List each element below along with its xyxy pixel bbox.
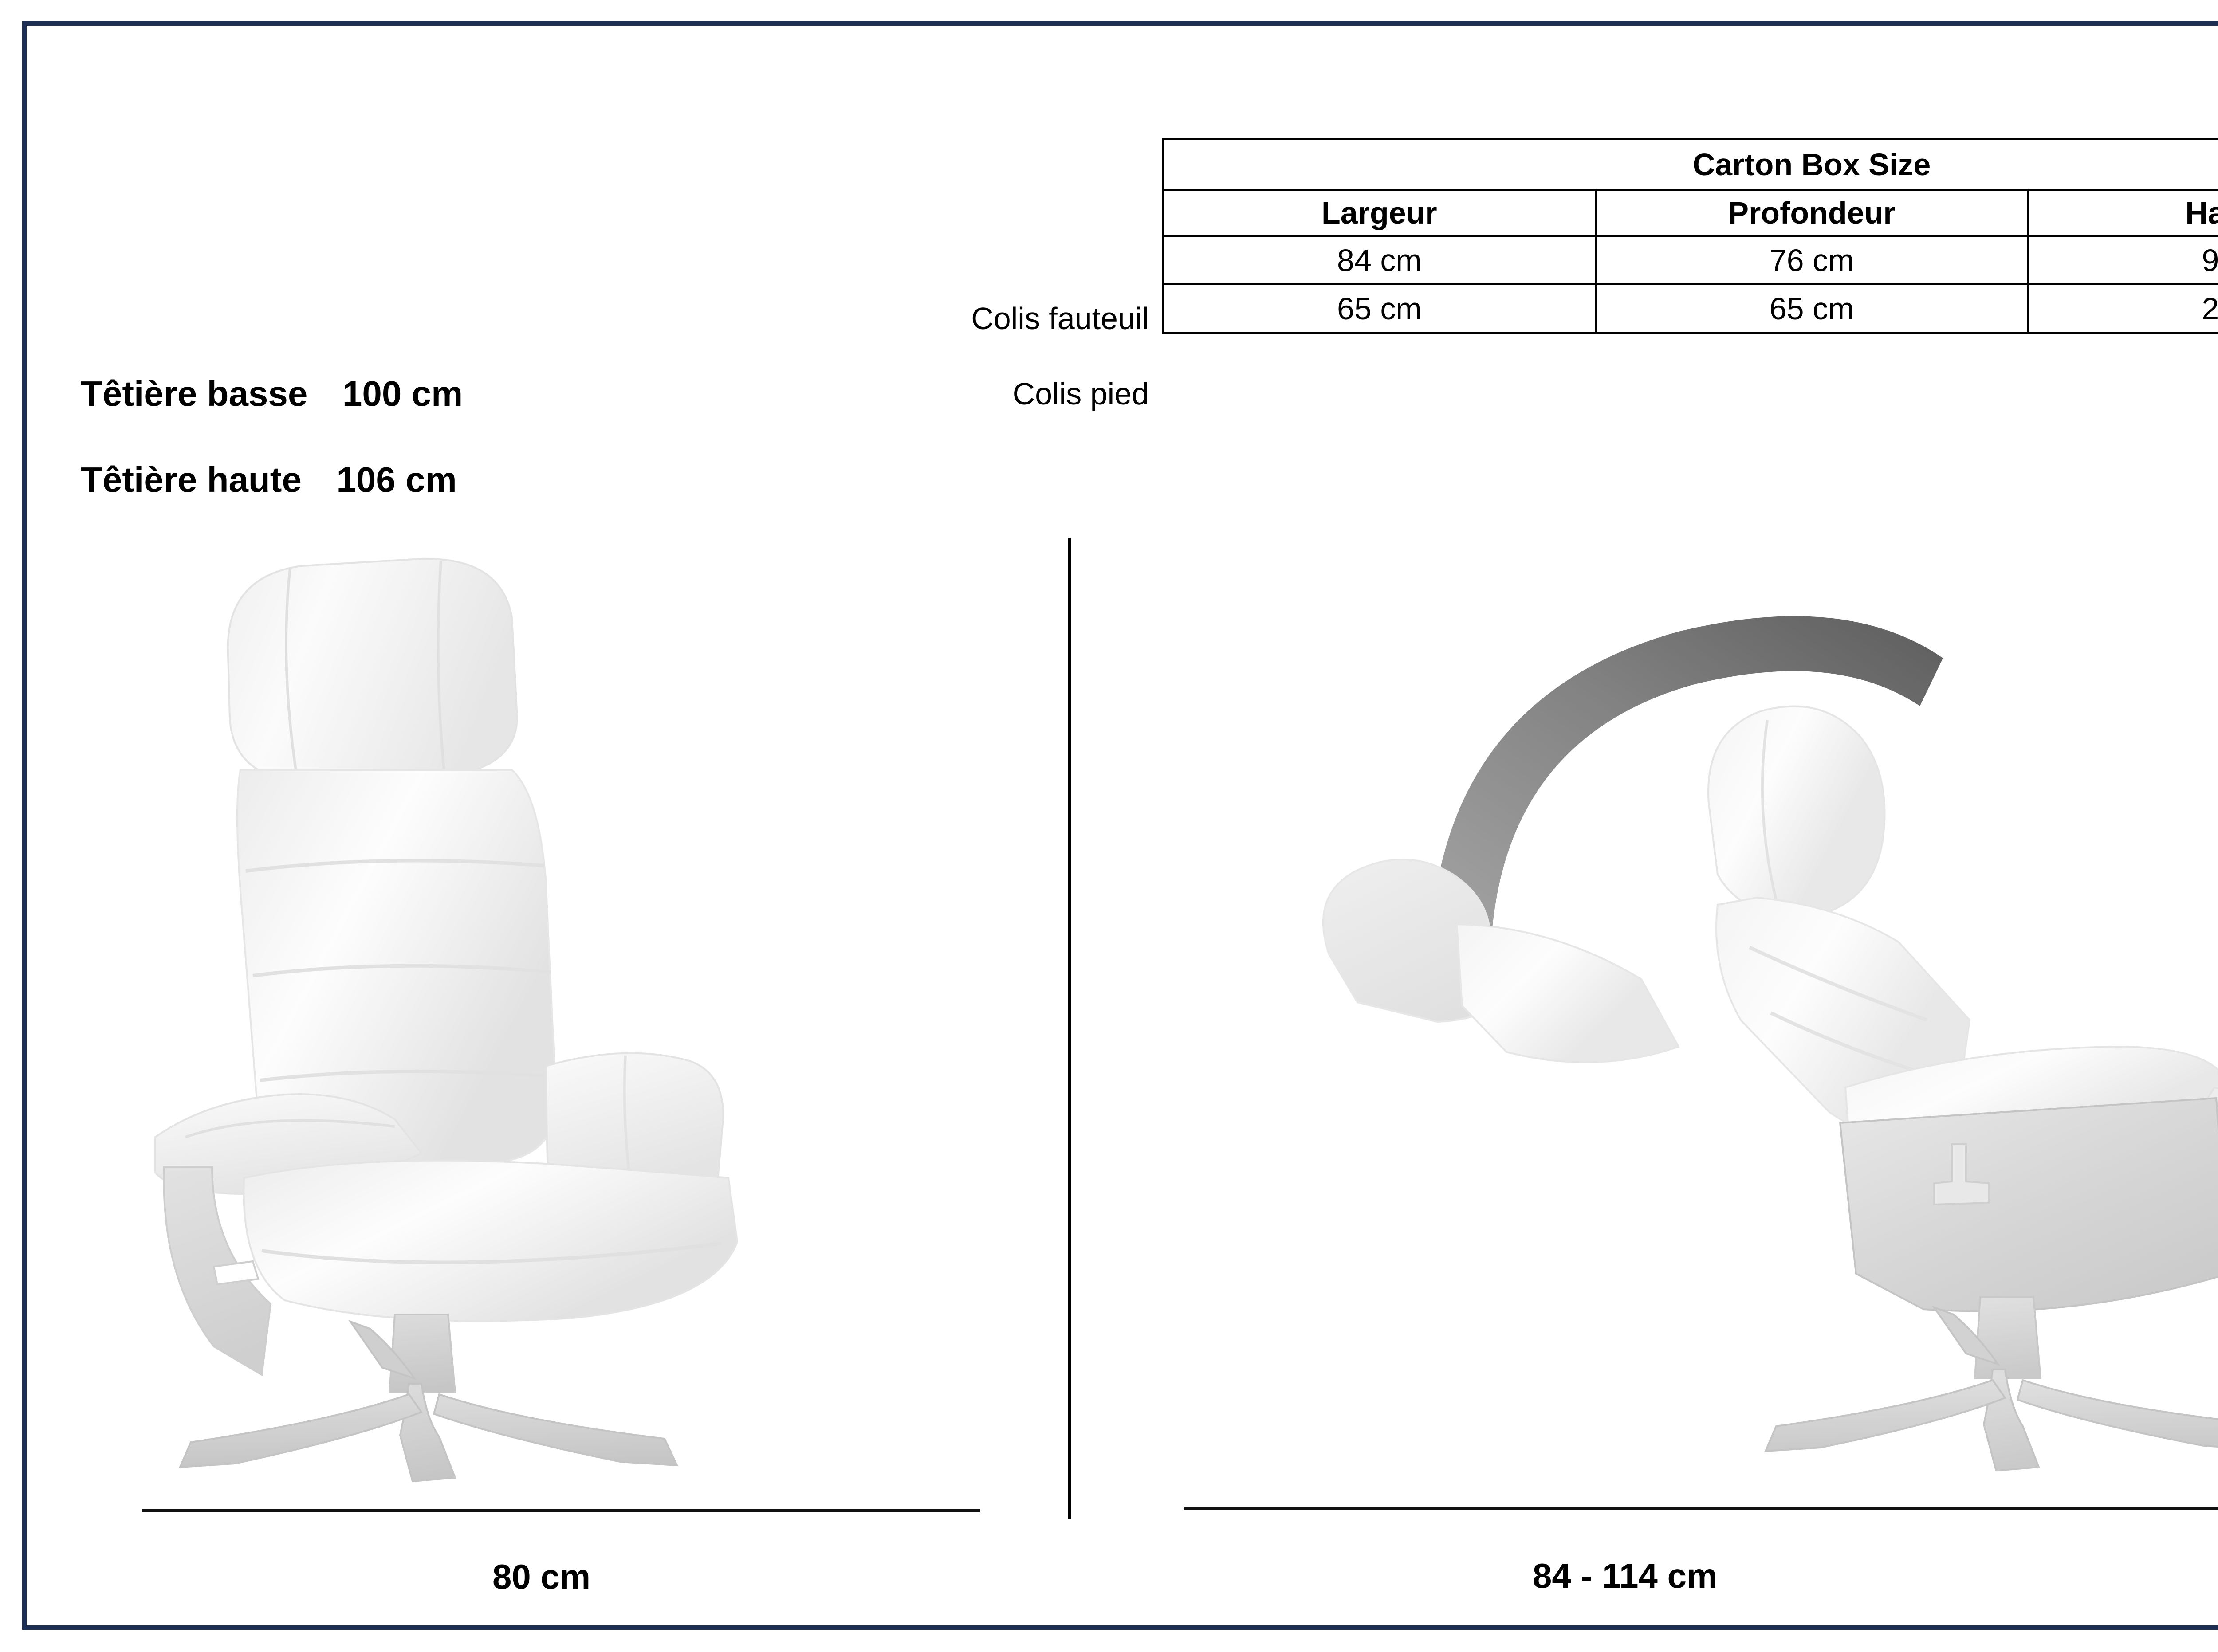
row-label-colis-fauteuil: Colis fauteuil xyxy=(971,301,1149,336)
headrest-low-value: 100 cm xyxy=(342,374,463,413)
recline-base-leg-right xyxy=(2017,1380,2218,1449)
cell-colis-fauteuil-largeur: 84 cm xyxy=(1163,236,1596,284)
table-row: 84 cm 76 cm 93 cm 26 kg xyxy=(1163,236,2218,284)
column-header-hauteur: Hauteur xyxy=(2028,190,2218,236)
headrest-low-spec: Têtière basse 100 cm xyxy=(81,373,463,414)
dimension-label-front-width: 80 cm xyxy=(492,1557,590,1597)
headrest-high-label: Têtière haute xyxy=(81,460,302,499)
seat-cushion xyxy=(244,1161,737,1321)
view-divider xyxy=(1068,538,1071,1519)
recline-view-illustration xyxy=(1224,523,2218,1512)
base-leg-left xyxy=(180,1394,421,1467)
recline-base-leg-left xyxy=(1766,1380,2005,1451)
dimension-label-recline-width: 84 - 114 cm xyxy=(1533,1556,1717,1596)
column-header-largeur: Largeur xyxy=(1163,190,1596,236)
table-row: 65 cm 65 cm 24 cm 15 kg xyxy=(1163,284,2218,333)
headrest-cushion xyxy=(228,559,517,782)
table-row-group-header: Carton Box Size Poids xyxy=(1163,139,2218,190)
reclined-backrest-ghost xyxy=(1457,924,1679,1062)
cell-colis-pied-hauteur: 24 cm xyxy=(2028,284,2218,333)
swivel-column xyxy=(389,1315,455,1393)
headrest-high-spec: Têtière haute 106 cm xyxy=(81,459,457,500)
recline-swivel-column xyxy=(1975,1297,2041,1378)
group-header-carton-box-size: Carton Box Size xyxy=(1163,139,2218,190)
base-leg-right xyxy=(434,1394,677,1465)
headrest-low-label: Têtière basse xyxy=(81,374,307,413)
cell-colis-pied-largeur: 65 cm xyxy=(1163,284,1596,333)
wood-back-shell xyxy=(1840,1098,2218,1311)
dimension-line-front-width xyxy=(142,1509,980,1512)
front-view-illustration xyxy=(129,541,998,1508)
carton-spec-table: Carton Box Size Poids Largeur Profondeur… xyxy=(1162,138,2218,334)
cell-colis-pied-profondeur: 65 cm xyxy=(1596,284,2028,333)
headrest-high-value: 106 cm xyxy=(336,460,456,499)
column-header-profondeur: Profondeur xyxy=(1596,190,2028,236)
recline-headrest xyxy=(1708,706,1885,918)
table-row-column-headers: Largeur Profondeur Hauteur xyxy=(1163,190,2218,236)
dimension-line-recline-width xyxy=(1184,1507,2218,1510)
cell-colis-fauteuil-hauteur: 93 cm xyxy=(2028,236,2218,284)
cell-colis-fauteuil-profondeur: 76 cm xyxy=(1596,236,2028,284)
spec-sheet: VEGA FAUTEUIL Carton Box Size Poids Larg… xyxy=(0,0,2218,1652)
row-label-colis-pied: Colis pied xyxy=(1013,376,1149,412)
